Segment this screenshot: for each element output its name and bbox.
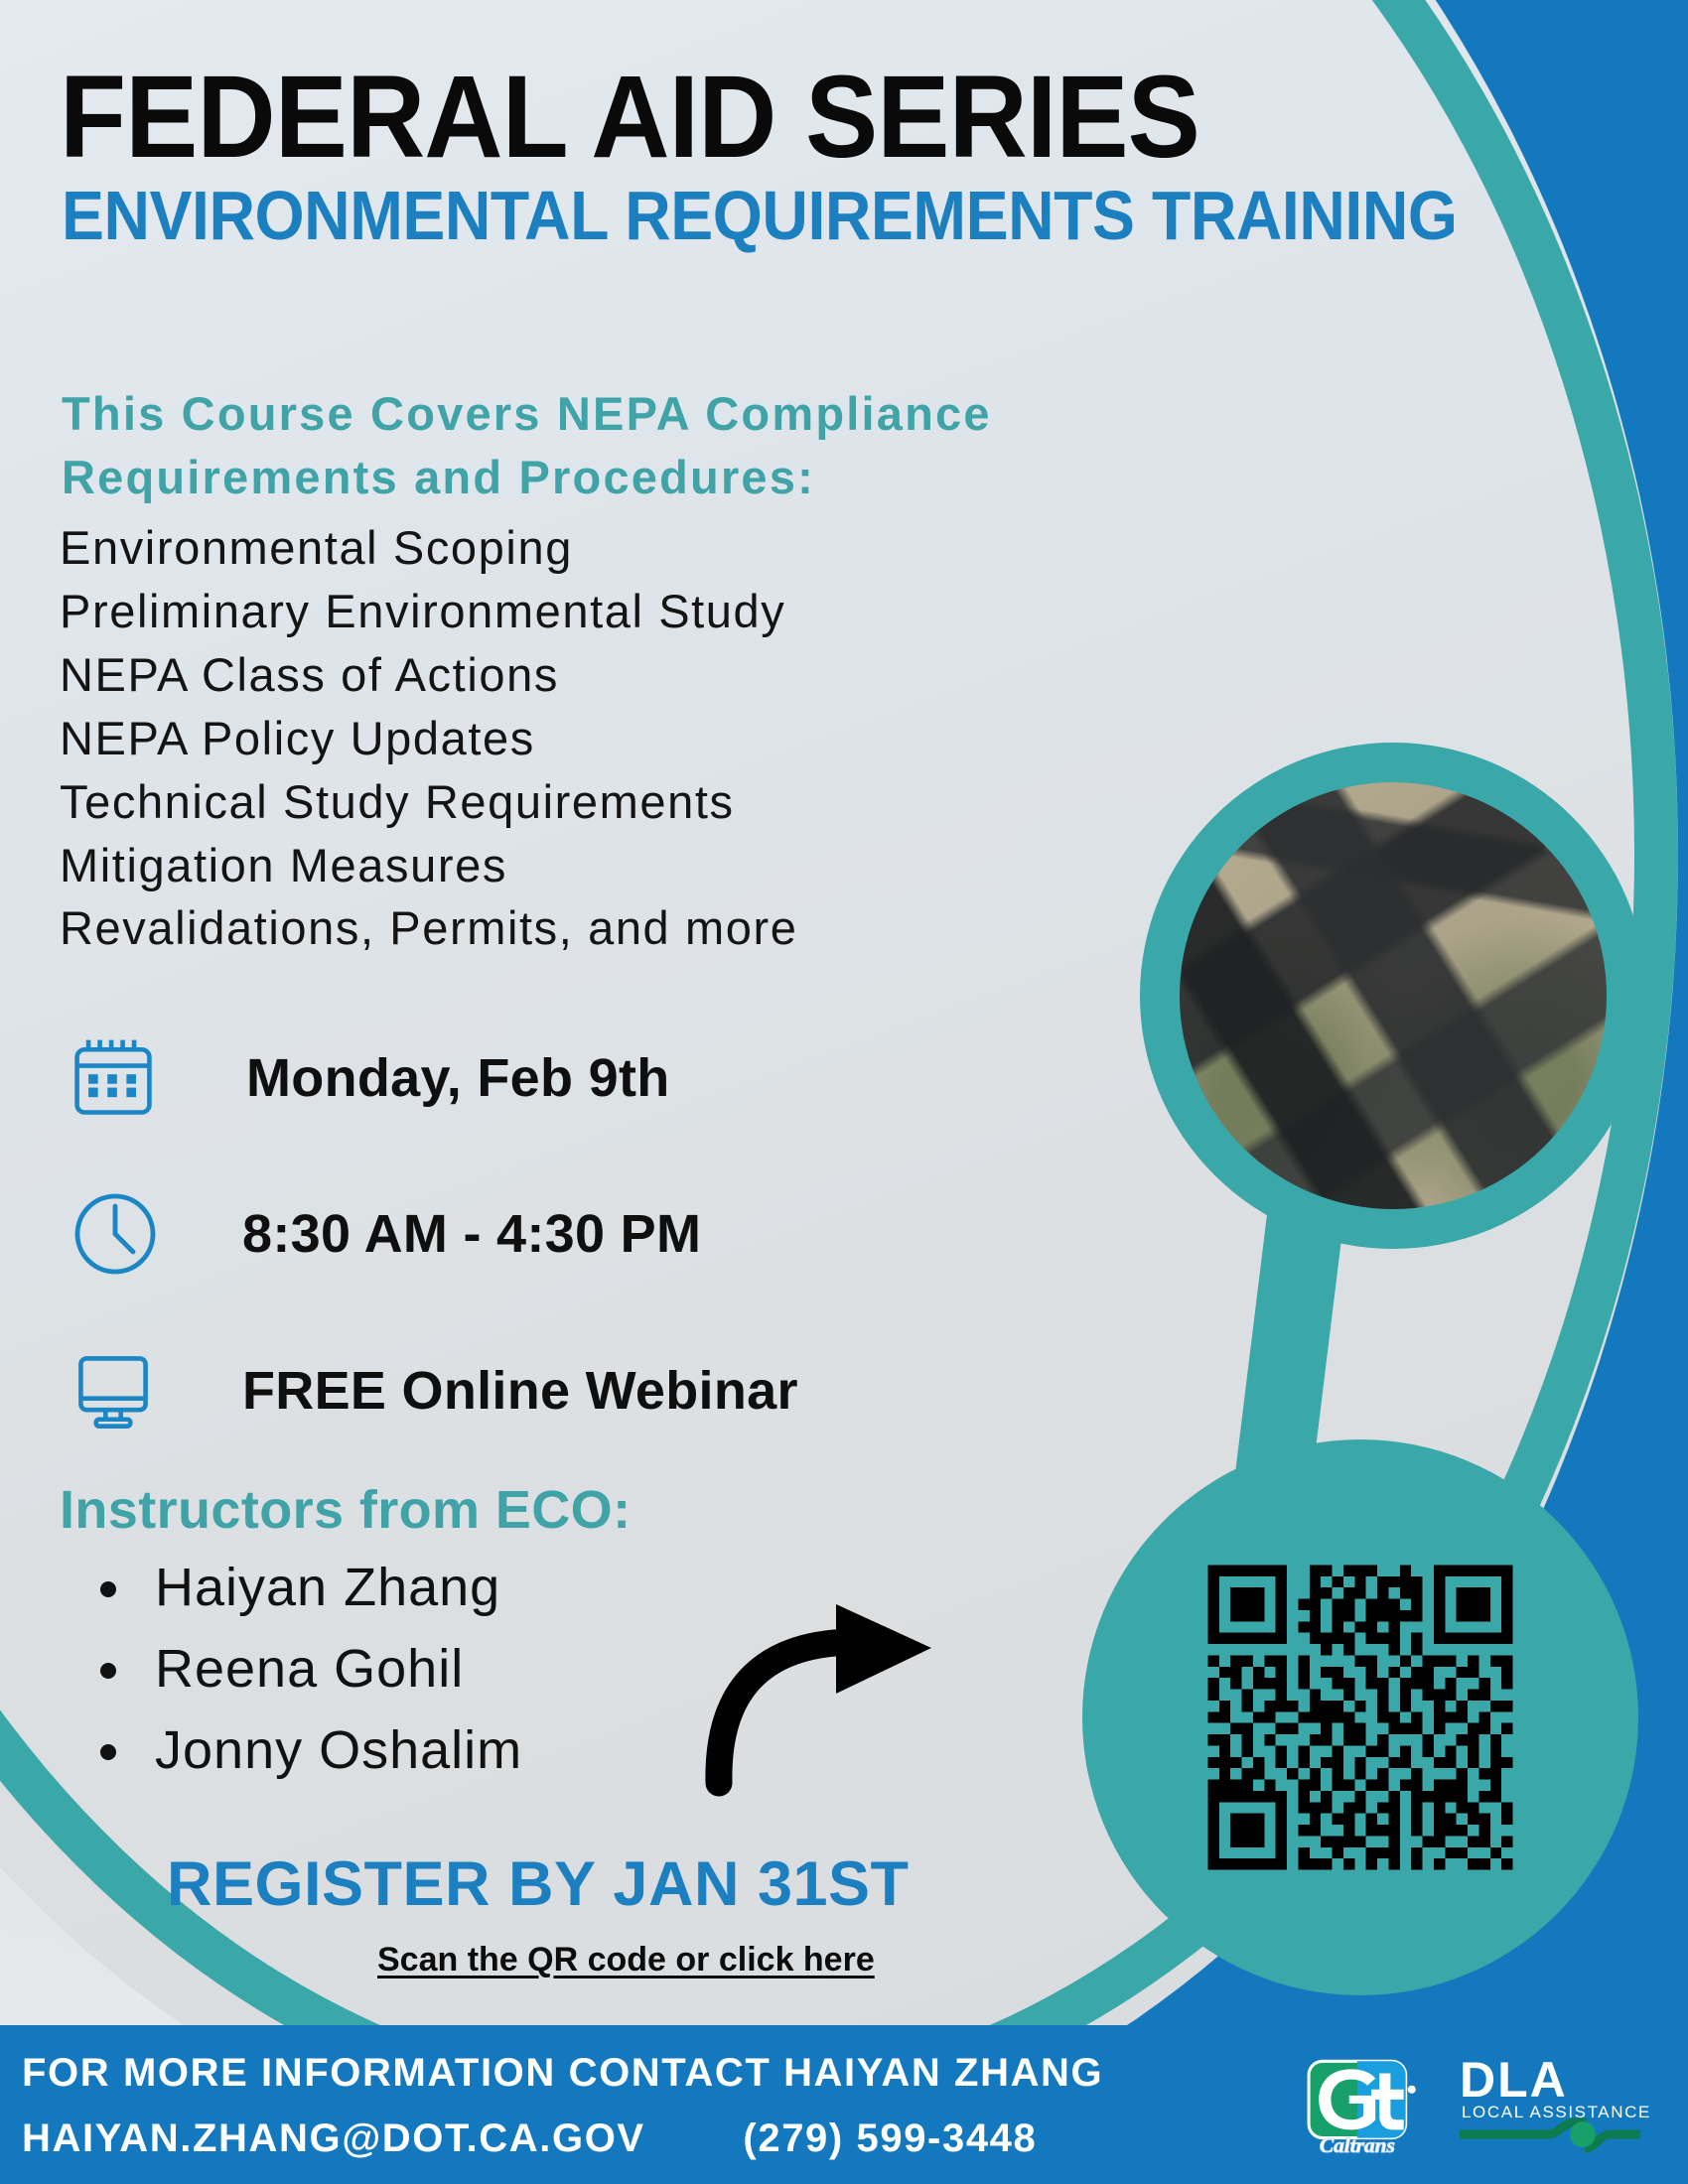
course-topic-list: Environmental Scoping Preliminary Enviro… xyxy=(60,516,1172,960)
svg-text:Caltrans: Caltrans xyxy=(1320,2133,1395,2156)
detail-row-format: FREE Online Webinar xyxy=(68,1345,798,1436)
course-intro-line2: Requirements and Procedures: xyxy=(62,446,1124,509)
flyer-poster: FEDERAL AID SERIES ENVIRONMENTAL REQUIRE… xyxy=(0,0,1688,2184)
detail-row-time: 8:30 AM - 4:30 PM xyxy=(68,1186,701,1282)
course-intro-line1: This Course Covers NEPA Compliance xyxy=(62,382,1124,446)
topic-item: Mitigation Measures xyxy=(60,834,1172,897)
topic-item: Environmental Scoping xyxy=(60,516,1172,580)
topic-item: NEPA Class of Actions xyxy=(60,643,1172,707)
dla-logo: DLA LOCAL ASSISTANCE xyxy=(1460,2049,1658,2158)
footer-logos: Caltrans DLA LOCAL ASSISTANCE xyxy=(1305,2049,1658,2158)
register-deadline: REGISTER BY JAN 31ST xyxy=(167,1848,910,1920)
page-subtitle: ENVIRONMENTAL REQUIREMENTS TRAINING xyxy=(62,181,1458,250)
aerial-highway-interchange-photo xyxy=(1180,782,1607,1209)
detail-format: FREE Online Webinar xyxy=(242,1360,798,1422)
caltrans-logo: Caltrans xyxy=(1305,2051,1426,2156)
topic-item: Technical Study Requirements xyxy=(60,770,1172,834)
topic-item: Preliminary Environmental Study xyxy=(60,580,1172,643)
instructor-item: Reena Gohil xyxy=(139,1628,522,1709)
instructor-item: Haiyan Zhang xyxy=(139,1547,522,1628)
detail-date: Monday, Feb 9th xyxy=(246,1047,670,1109)
dla-logo-text: DLA xyxy=(1460,2051,1568,2109)
dla-swoosh-icon xyxy=(1460,2105,1658,2156)
page-title: FEDERAL AID SERIES xyxy=(60,62,1199,174)
topic-item: Revalidations, Permits, and more xyxy=(60,896,1172,960)
detail-time: 8:30 AM - 4:30 PM xyxy=(242,1203,701,1265)
highway-photo-circle xyxy=(1140,743,1646,1249)
qr-code-circle[interactable] xyxy=(1082,1439,1638,1995)
instructor-item: Jonny Oshalim xyxy=(139,1709,522,1791)
monitor-icon xyxy=(68,1345,175,1436)
footer-bar: FOR MORE INFORMATION CONTACT HAIYAN ZHAN… xyxy=(0,2025,1688,2184)
qr-code[interactable] xyxy=(1196,1554,1524,1881)
instructors-list: Haiyan Zhang Reena Gohil Jonny Oshalim xyxy=(89,1547,522,1791)
detail-row-date: Monday, Feb 9th xyxy=(68,1032,670,1124)
footer-contact-line: FOR MORE INFORMATION CONTACT HAIYAN ZHAN… xyxy=(22,2051,1103,2096)
calendar-icon xyxy=(68,1032,175,1124)
scan-qr-link[interactable]: Scan the QR code or click here xyxy=(377,1941,875,1979)
clock-icon xyxy=(68,1186,175,1282)
footer-email[interactable]: HAIYAN.ZHANG@DOT.CA.GOV xyxy=(22,2116,645,2160)
footer-contact-details: HAIYAN.ZHANG@DOT.CA.GOV (279) 599-3448 xyxy=(22,2116,1037,2161)
course-intro: This Course Covers NEPA Compliance Requi… xyxy=(62,382,1124,509)
instructors-heading: Instructors from ECO: xyxy=(60,1479,631,1541)
curved-arrow-right-icon xyxy=(705,1598,943,1797)
topic-item: NEPA Policy Updates xyxy=(60,707,1172,770)
footer-phone[interactable]: (279) 599-3448 xyxy=(743,2116,1037,2160)
